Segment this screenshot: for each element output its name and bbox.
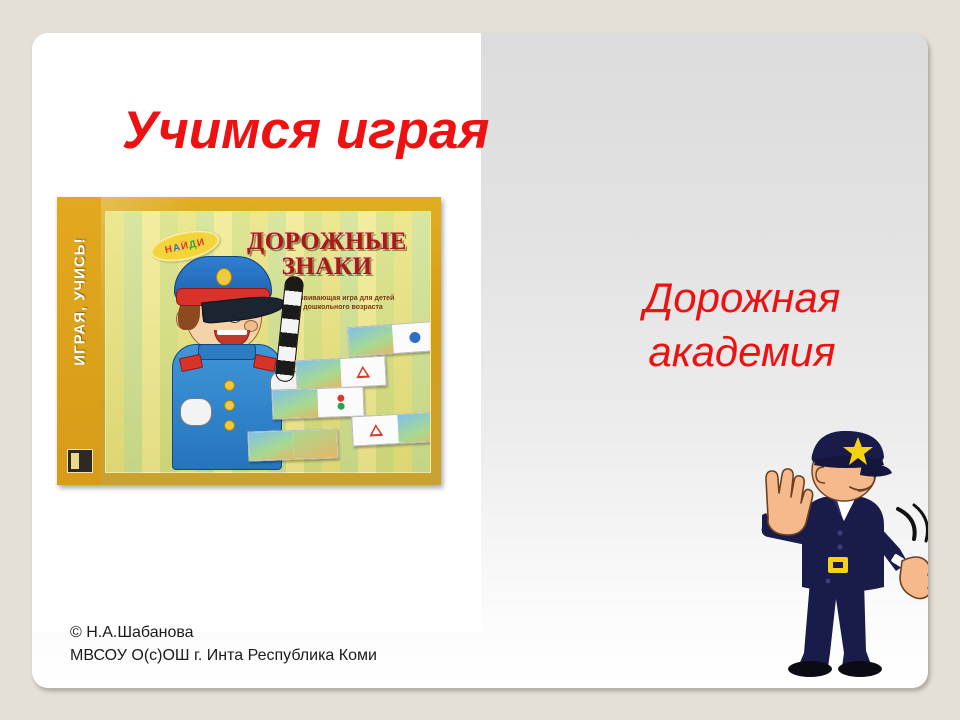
box-spine-label: ИГРАЯ, УЧИСЬ!	[72, 217, 89, 387]
card-sign	[340, 357, 385, 387]
credit-block: © Н.А.Шабанова МВСОУ О(с)ОШ г. Инта Респ…	[70, 621, 377, 667]
card-scene	[296, 359, 341, 389]
puzzle-card	[248, 428, 339, 461]
card-sign	[352, 415, 398, 445]
publisher-logo-icon	[67, 449, 93, 473]
card-scene	[273, 389, 319, 419]
subtitle-line-2: академия	[542, 325, 928, 379]
card-scene	[249, 431, 294, 461]
slide-stage: Учимся играя Дорожная академия ИГРАЯ, УЧ…	[0, 0, 960, 720]
presentation-slide: Учимся играя Дорожная академия ИГРАЯ, УЧ…	[32, 33, 928, 688]
card-scene	[293, 429, 338, 459]
subtitle-line-1: Дорожная	[542, 271, 928, 325]
card-scene	[397, 413, 431, 443]
puzzle-cards-group	[256, 322, 431, 472]
boy-collar	[198, 344, 256, 360]
puzzle-card	[272, 386, 365, 419]
boy-hand-left	[180, 398, 212, 426]
boy-cap-badge-icon	[216, 268, 232, 286]
credit-organization: МВСОУ О(с)ОШ г. Инта Республика Коми	[70, 644, 377, 667]
card-sign	[318, 387, 364, 417]
puzzle-card	[351, 412, 431, 447]
card-scene	[348, 325, 394, 356]
boy-button-1	[224, 380, 235, 391]
credit-author: © Н.А.Шабанова	[70, 621, 377, 644]
slide-subtitle: Дорожная академия	[542, 271, 928, 379]
box-artwork: ДОРОЖНЫЕ ЗНАКИ Развивающая игра для дете…	[105, 211, 431, 473]
puzzle-card	[295, 356, 386, 391]
box-spine: ИГРАЯ, УЧИСЬ!	[57, 197, 101, 485]
boy-button-2	[224, 400, 235, 411]
card-sign	[392, 322, 431, 353]
board-game-box-photo: ИГРАЯ, УЧИСЬ! ДОРОЖНЫЕ ЗНАКИ Развивающая…	[57, 197, 441, 485]
page-title: Учимся играя	[122, 103, 762, 159]
puzzle-card	[347, 321, 431, 357]
policeman-illustration	[732, 431, 928, 683]
boy-button-3	[224, 420, 235, 431]
